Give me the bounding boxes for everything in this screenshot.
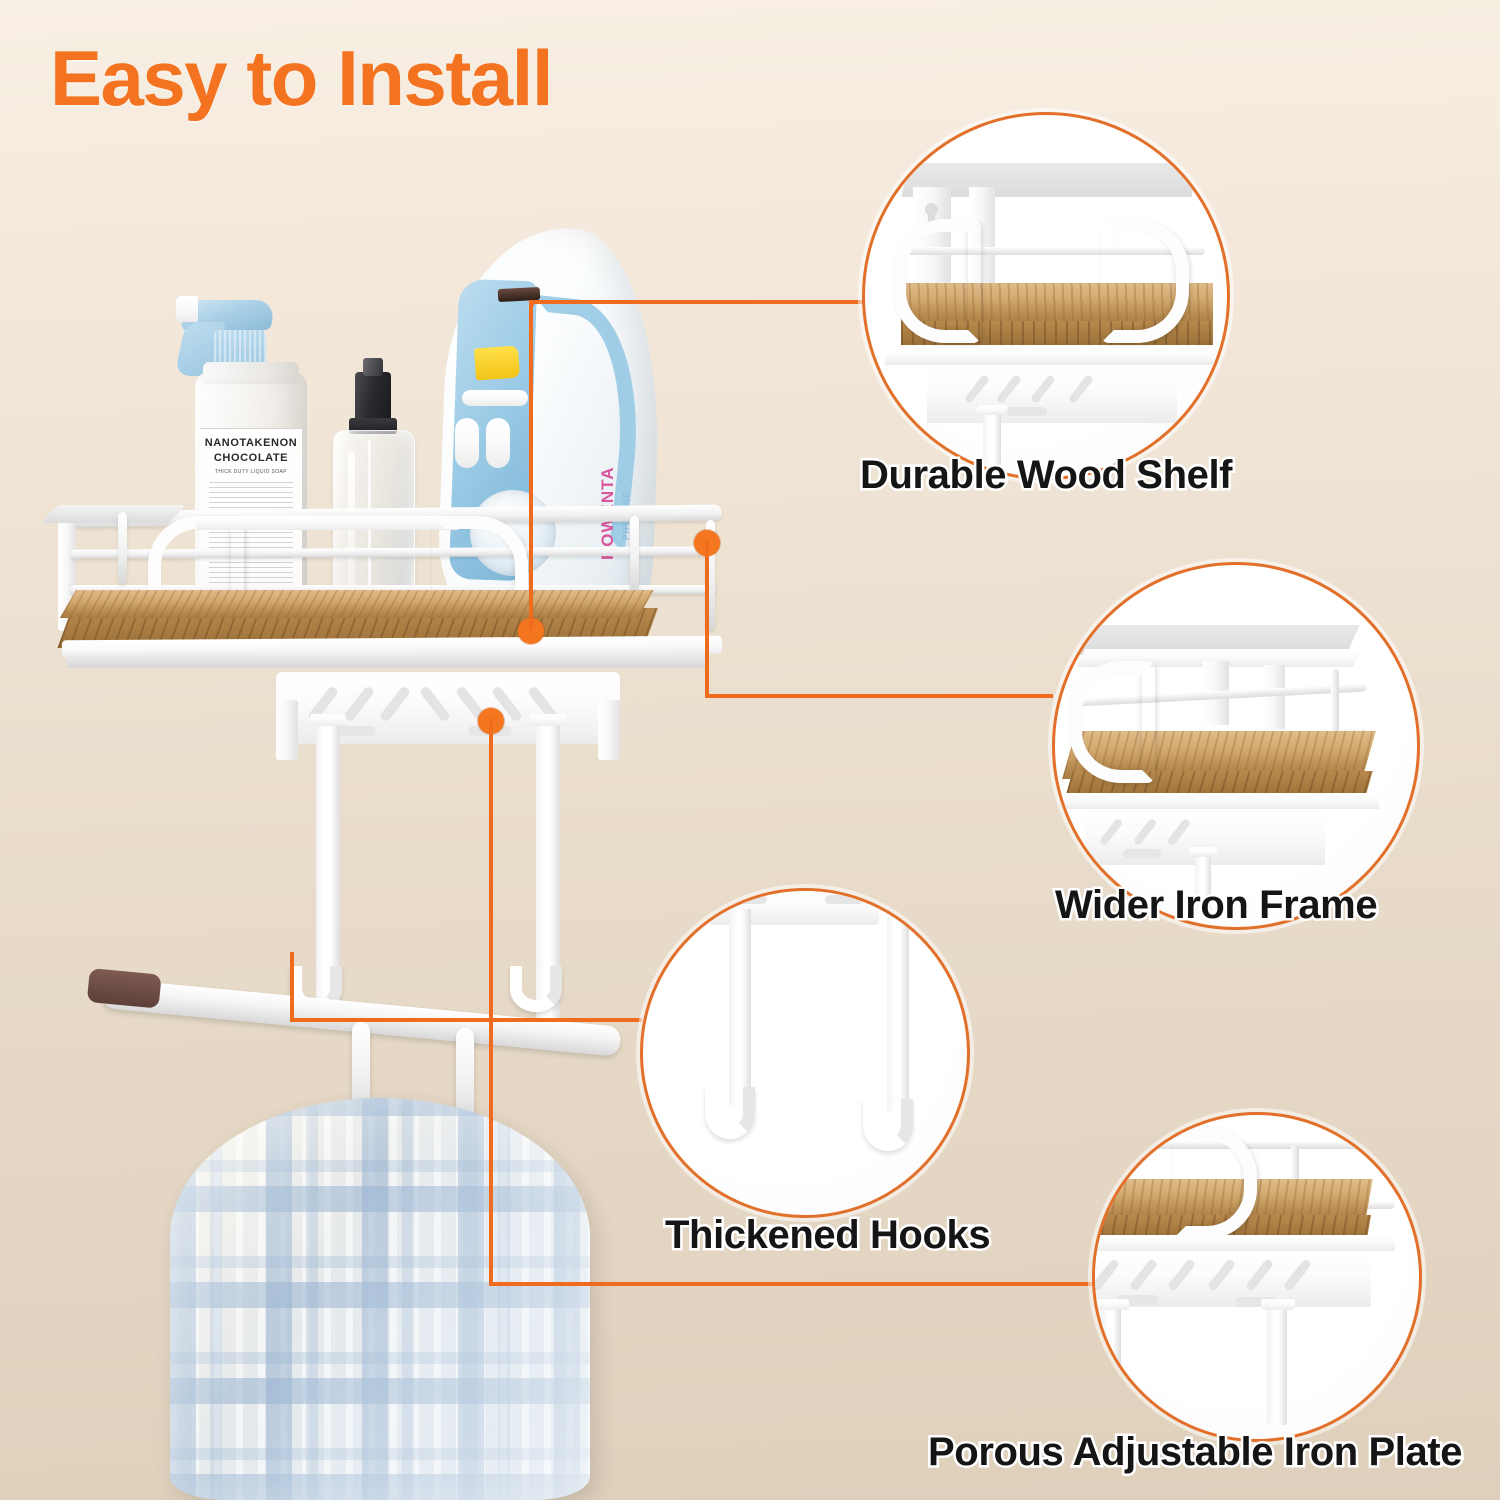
connector-frame-vertical <box>705 540 709 696</box>
infographic-canvas: Easy to Install NANOTAKENON CHOCOLATE TH… <box>0 0 1500 1500</box>
hook-tab-right <box>530 714 566 726</box>
bottle-label-brand: NANOTAKENON <box>200 437 302 451</box>
bottle-label-product: CHOCOLATE <box>200 452 302 466</box>
iron-knob-right <box>486 418 510 468</box>
board-plaid-cover <box>170 1098 590 1500</box>
porous-plate-tab-right <box>598 700 620 760</box>
connector-wood-horizontal <box>530 300 864 304</box>
zoom-porous-plate <box>927 365 1177 423</box>
shelf-left-top-edge <box>41 505 186 523</box>
slot-icon <box>1123 849 1161 858</box>
zoom4-s-bracket <box>1173 1127 1257 1239</box>
shelf-bracket-span-top <box>196 516 458 530</box>
iron-knob-left <box>455 418 479 468</box>
connector-wood-vertical <box>529 300 533 630</box>
zoom2-hook-tab <box>1189 847 1217 857</box>
callout-bubble-thickened-hooks <box>640 888 970 1218</box>
callout-bubble-porous-adjustable-iron-plate <box>1092 1112 1422 1442</box>
shelf-wire-post-1 <box>118 512 127 584</box>
hero-product-photo: NANOTAKENON CHOCOLATE THICK DUTY LIQUID … <box>0 0 820 1500</box>
callout-label-wider-iron-frame: Wider Iron Frame <box>1055 885 1377 925</box>
slot-icon <box>729 895 767 904</box>
porous-plate-tab-left <box>276 700 298 760</box>
callout-bubble-durable-wood-shelf <box>862 112 1230 480</box>
zoom2-tray-lip <box>1063 793 1379 809</box>
iron-slider <box>462 390 528 406</box>
zoom4-tray-lip <box>1095 1235 1395 1251</box>
zoom4-hook-tab-left <box>1095 1299 1129 1310</box>
callout-label-thickened-hooks: Thickened Hooks <box>665 1215 990 1255</box>
zoom4-hook-tab-right <box>1261 1299 1295 1310</box>
hook-icon <box>510 966 562 1012</box>
zoom-s-bracket-left <box>893 219 981 343</box>
bottle-shoulder <box>203 362 299 384</box>
hook-icon <box>863 1099 913 1151</box>
callout-label-durable-wood-shelf: Durable Wood Shelf <box>860 455 1232 495</box>
spray-nozzle <box>176 296 198 322</box>
hook-tab-left <box>310 714 346 726</box>
connector-plate-vertical <box>489 718 493 1284</box>
zoom2-rib-right <box>1263 665 1285 729</box>
zoom-s-bracket-right <box>1101 219 1189 343</box>
hook-arm-left <box>729 909 751 1105</box>
mist-pump-cap <box>355 372 391 424</box>
shelf-bottom-lip-shadow <box>66 654 708 668</box>
connector-hooks-vertical <box>290 952 294 1020</box>
zoom2-s-bracket <box>1069 661 1155 783</box>
hook-icon <box>705 1087 755 1139</box>
connector-frame-horizontal <box>705 694 1053 698</box>
shelf-wood-top-face <box>60 590 654 618</box>
zoom-tray-lip <box>885 349 1215 365</box>
hook-arm-right <box>887 917 909 1113</box>
bottle-label-subtitle: THICK DUTY LIQUID SOAP <box>200 469 302 475</box>
callout-bubble-wider-iron-frame <box>1052 562 1420 930</box>
mist-nozzle <box>363 358 383 376</box>
connector-hooks-horizontal <box>290 1018 642 1022</box>
hook-arm-left <box>1101 1305 1121 1425</box>
callout-label-porous-adjustable-iron-plate: Porous Adjustable Iron Plate <box>928 1432 1462 1472</box>
iron-steam-button <box>474 346 520 381</box>
board-leg-cap <box>87 968 162 1009</box>
zoom-hook-tab <box>977 405 1007 415</box>
slot-icon <box>825 895 863 904</box>
connector-plate-horizontal <box>489 1282 1103 1286</box>
slot-icon <box>1007 407 1047 416</box>
hook-arm-right <box>1267 1305 1287 1425</box>
shelf-wire-post-2 <box>630 516 639 592</box>
